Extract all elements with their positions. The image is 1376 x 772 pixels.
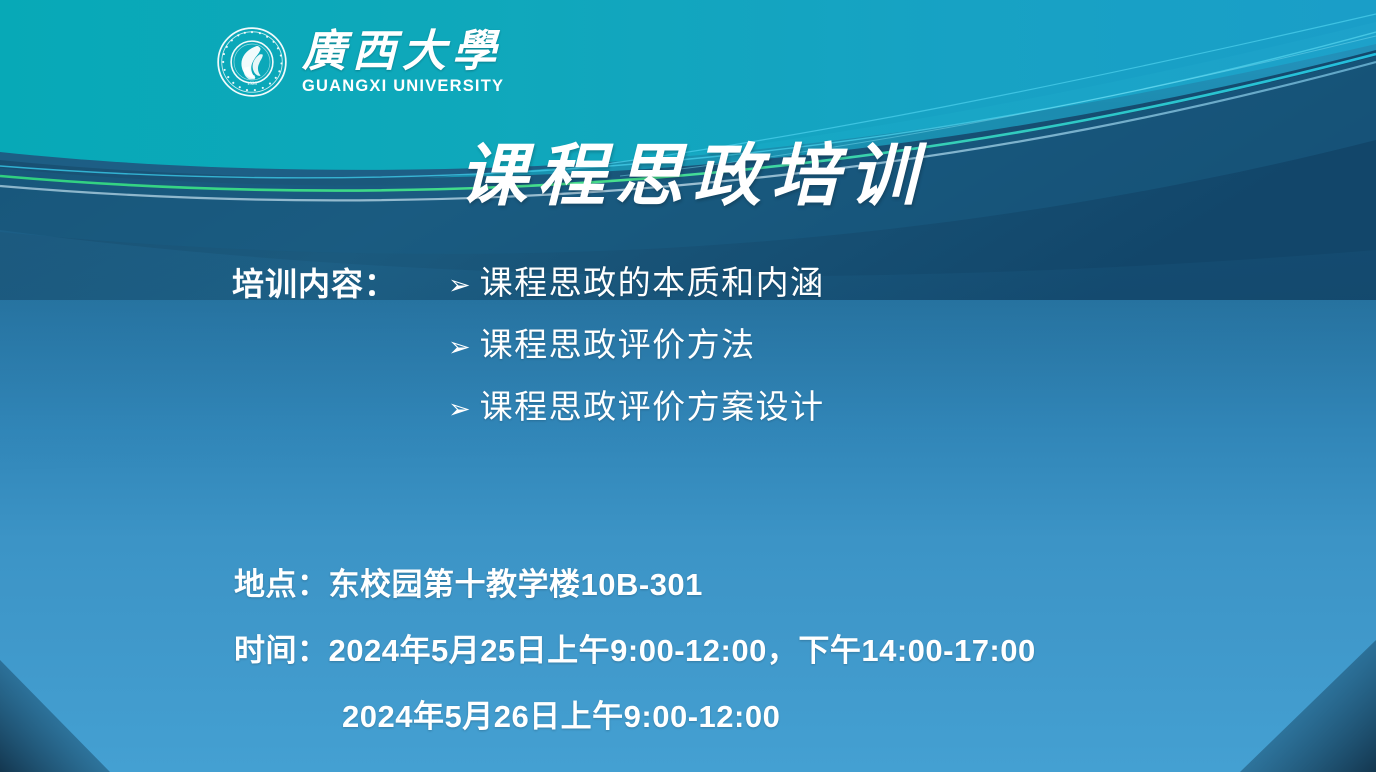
svg-text:1928: 1928 bbox=[247, 81, 258, 87]
event-time-line-1: 时间：2024年5月25日上午9:00-12:00，下午14:00-17:00 bbox=[234, 629, 1334, 673]
logo-wordmark: 廣西大學 GUANGXI UNIVERSITY bbox=[302, 26, 504, 98]
page-title: 课程思政培训 bbox=[0, 136, 1376, 216]
content-label: 培训内容： bbox=[232, 262, 448, 306]
corner-shadow-left bbox=[0, 660, 110, 772]
list-item: ➢ 课程思政评价方案设计 bbox=[448, 386, 1232, 448]
presentation-slide: 1928 廣西大學 GUANGXI UNIVERSITY 课程思政培训 培训内容… bbox=[0, 0, 1376, 772]
list-item: ➢ 课程思政评价方法 bbox=[448, 324, 1232, 386]
list-item-label: 课程思政的本质和内涵 bbox=[480, 262, 825, 306]
list-item-label: 课程思政评价方法 bbox=[480, 324, 756, 368]
arrow-bullet-icon: ➢ bbox=[448, 388, 471, 432]
event-info-block: 地点：东校园第十教学楼10B-301 时间：2024年5月25日上午9:00-1… bbox=[234, 563, 1334, 739]
arrow-bullet-icon: ➢ bbox=[448, 326, 471, 370]
bullet-list: ➢ 课程思政的本质和内涵 ➢ 课程思政评价方法 ➢ 课程思政评价方案设计 bbox=[448, 262, 1232, 448]
arrow-bullet-icon: ➢ bbox=[448, 264, 471, 308]
event-location: 地点：东校园第十教学楼10B-301 bbox=[234, 563, 1334, 607]
logo-name-en: GUANGXI UNIVERSITY bbox=[302, 77, 504, 95]
content-row-first: 培训内容： ➢ 课程思政的本质和内涵 ➢ 课程思政评价方法 ➢ 课程思政评价方案… bbox=[232, 262, 1232, 324]
list-item-label: 课程思政评价方案设计 bbox=[480, 386, 825, 430]
event-time-line-2: 2024年5月26日上午9:00-12:00 bbox=[234, 695, 1334, 739]
university-logo: 1928 廣西大學 GUANGXI UNIVERSITY bbox=[216, 24, 504, 100]
training-content-block: 培训内容： ➢ 课程思政的本质和内涵 ➢ 课程思政评价方法 ➢ 课程思政评价方案… bbox=[232, 262, 1232, 324]
list-item: ➢ 课程思政的本质和内涵 bbox=[448, 262, 1232, 324]
guangxi-university-seal-icon: 1928 bbox=[216, 26, 288, 98]
logo-name-cn: 廣西大學 bbox=[302, 29, 504, 75]
